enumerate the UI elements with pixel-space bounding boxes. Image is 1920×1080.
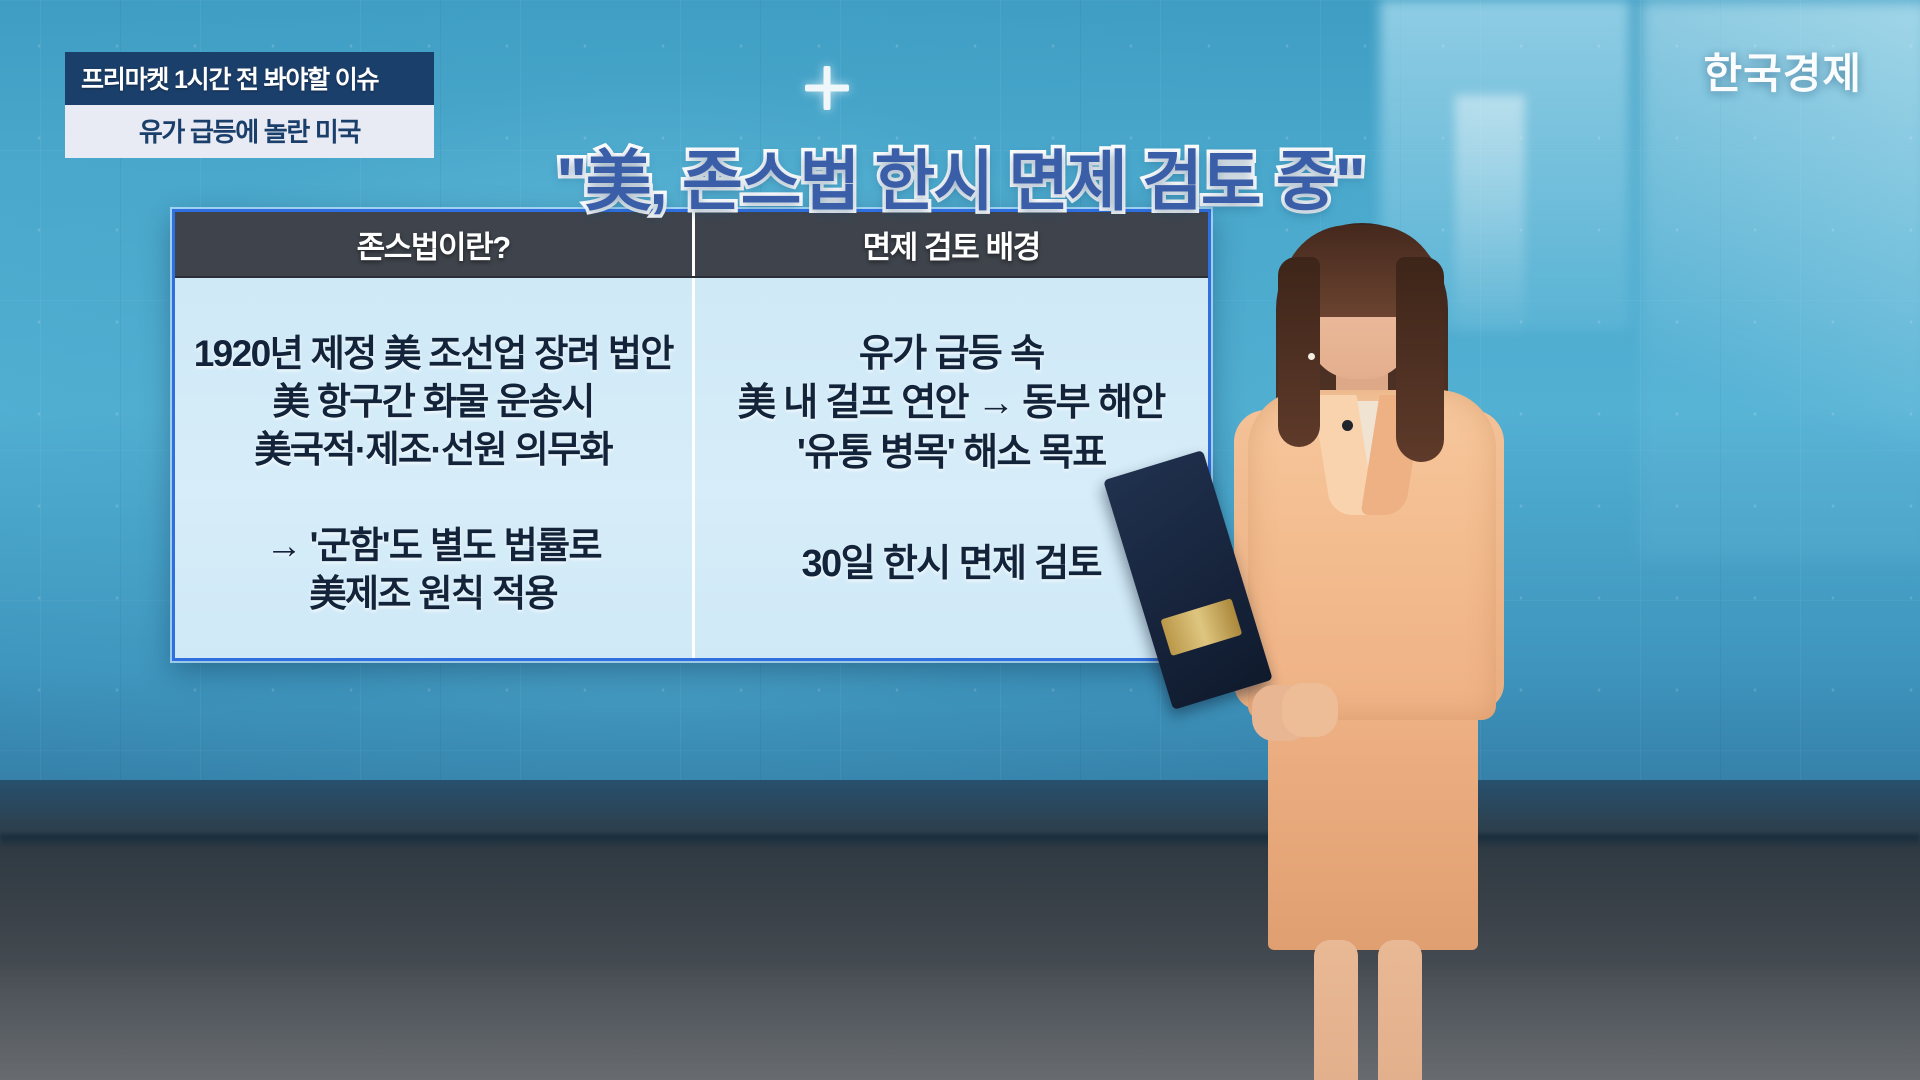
studio-floor-edge xyxy=(0,834,1920,850)
board-line: 美국적·제조·선원 의무화 xyxy=(255,426,612,474)
program-subtitle: 유가 급등에 놀란 미국 xyxy=(65,105,434,158)
board-line: 美 항구간 화물 운송시 xyxy=(273,378,594,426)
board-line: 1920년 제정 美 조선업 장려 법안 xyxy=(194,330,673,378)
anchor-hair-side-left xyxy=(1278,257,1320,447)
anchor-hand-right xyxy=(1282,683,1338,737)
program-banner: 프리마켓 1시간 전 봐야할 이슈 유가 급등에 놀란 미국 xyxy=(65,52,434,158)
plus-icon xyxy=(805,66,849,110)
script-folder-emblem xyxy=(1160,598,1242,656)
broadcast-stage: 프리마켓 1시간 전 봐야할 이슈 유가 급등에 놀란 미국 한국경제 "美, … xyxy=(0,0,1920,1080)
broadcaster-logo: 한국경제 xyxy=(1703,40,1862,101)
news-anchor xyxy=(1190,205,1520,1080)
anchor-earring xyxy=(1308,353,1315,360)
board-body: 1920년 제정 美 조선업 장려 법안 美 항구간 화물 운송시 美국적·제조… xyxy=(175,278,1208,661)
anchor-hair-side-right xyxy=(1396,257,1444,462)
board-column-left: 1920년 제정 美 조선업 장려 법안 美 항구간 화물 운송시 美국적·제조… xyxy=(175,278,692,661)
anchor-leg-left xyxy=(1314,940,1358,1080)
board-line: '유통 병목' 해소 목표 xyxy=(797,429,1106,478)
board-column-right: 유가 급등 속 美 내 걸프 연안 → 동부 해안 '유통 병목' 해소 목표 … xyxy=(692,278,1209,661)
information-board: 존스법이란? 면제 검토 배경 1920년 제정 美 조선업 장려 법안 美 항… xyxy=(172,209,1211,661)
anchor-skirt xyxy=(1268,705,1478,950)
program-title: 프리마켓 1시간 전 봐야할 이슈 xyxy=(65,52,434,105)
board-line: 30일 한시 면제 검토 xyxy=(802,540,1101,589)
board-line: → '군함'도 별도 법률로 xyxy=(266,522,601,570)
board-line: 美 내 걸프 연안 → 동부 해안 xyxy=(738,379,1165,428)
board-line: 유가 급등 속 xyxy=(859,330,1044,379)
anchor-leg-right xyxy=(1378,940,1422,1080)
studio-floor-reflection xyxy=(0,960,1920,1080)
board-line: 美제조 원칙 적용 xyxy=(310,570,557,618)
anchor-lapel-microphone xyxy=(1342,420,1353,431)
